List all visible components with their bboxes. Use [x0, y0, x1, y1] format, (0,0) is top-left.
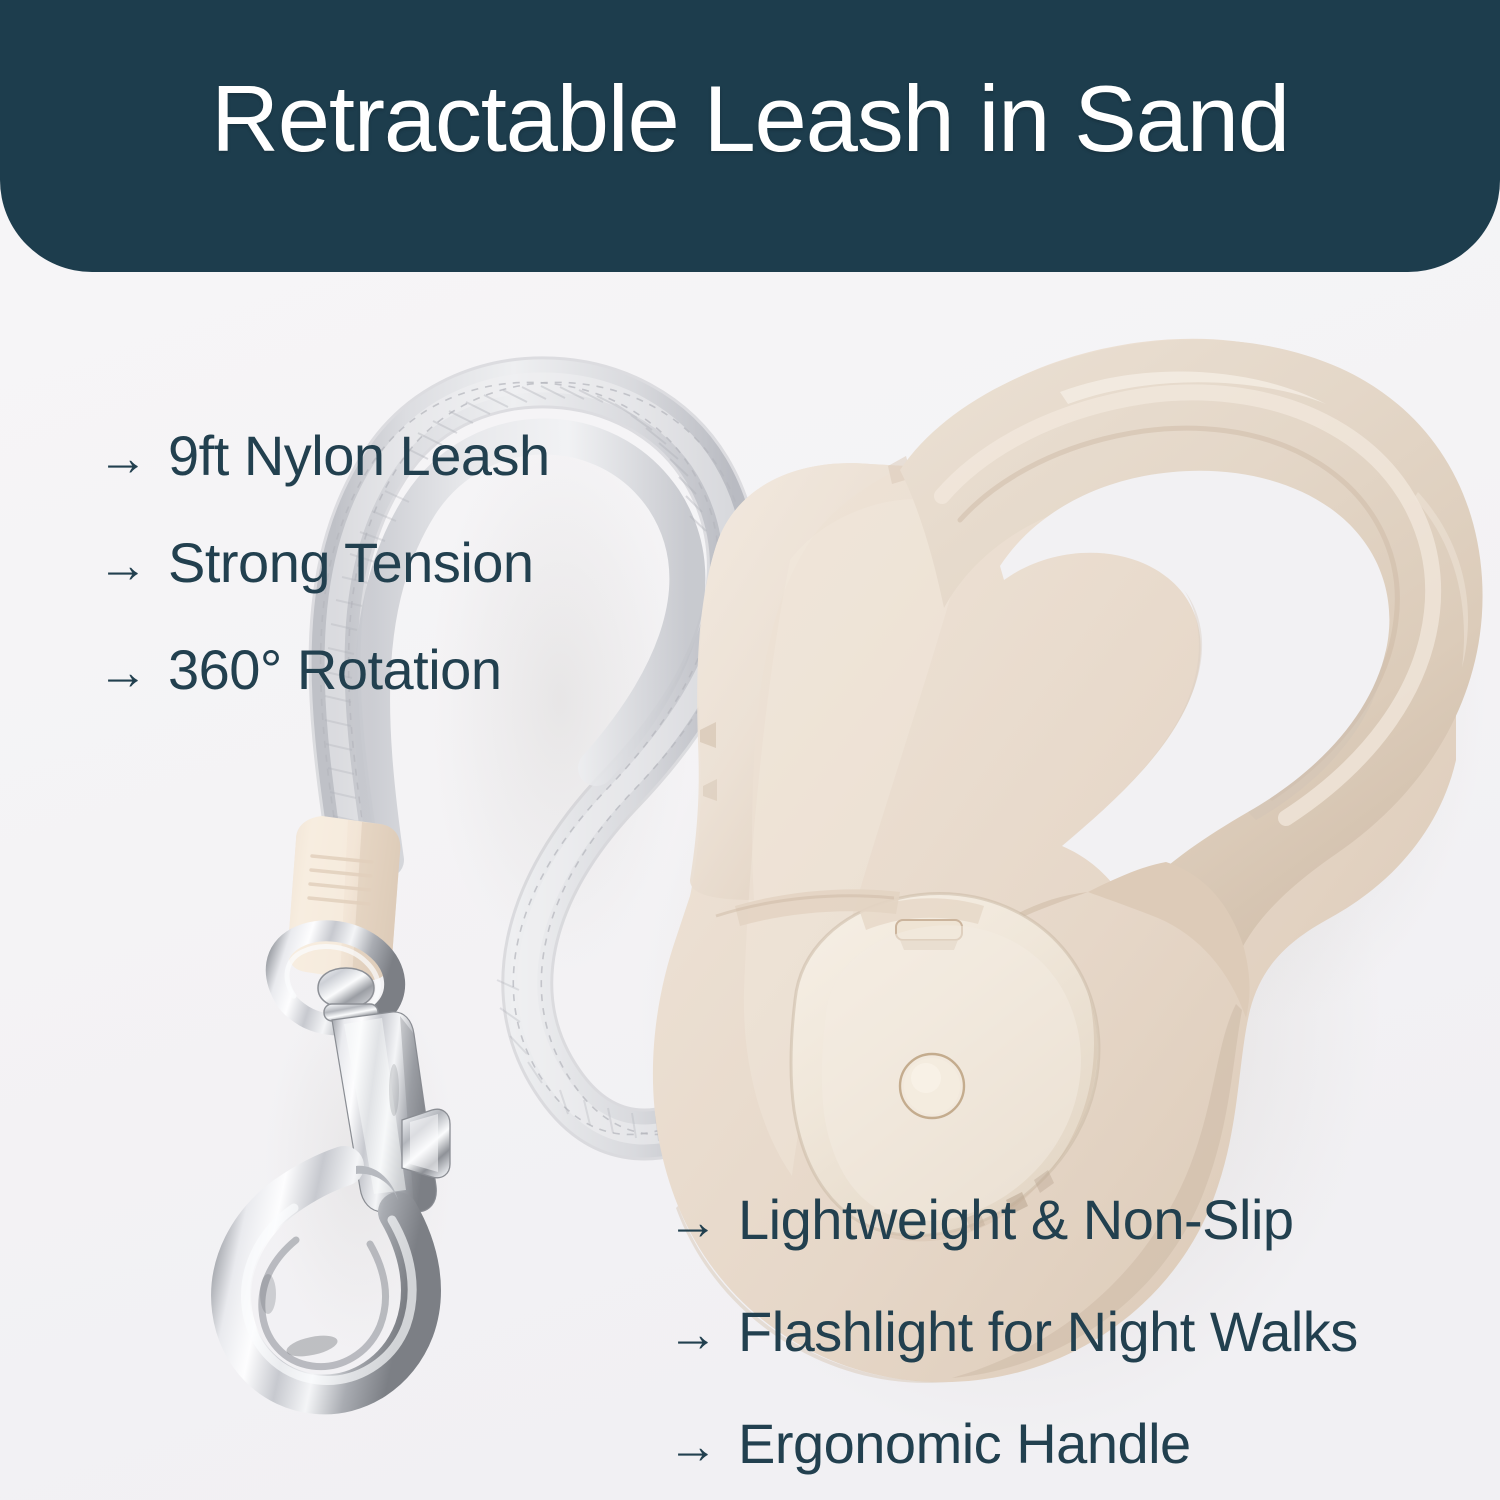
- page-title: Retractable Leash in Sand: [211, 72, 1289, 166]
- feature-label: Flashlight for Night Walks: [738, 1304, 1358, 1360]
- feature-label: Ergonomic Handle: [738, 1416, 1191, 1472]
- feature-label: Strong Tension: [168, 535, 534, 591]
- arrow-icon: →: [668, 1421, 738, 1471]
- feature-list-right: → Lightweight & Non-Slip → Flashlight fo…: [668, 1192, 1358, 1500]
- arrow-icon: →: [668, 1197, 738, 1247]
- feature-label: 9ft Nylon Leash: [168, 428, 550, 484]
- arrow-icon: →: [668, 1309, 738, 1359]
- feature-item-flashlight-night-walks: → Flashlight for Night Walks: [668, 1304, 1358, 1360]
- feature-item-ergonomic-handle: → Ergonomic Handle: [668, 1416, 1358, 1472]
- feature-item-strong-tension: → Strong Tension: [98, 535, 550, 591]
- feature-item-nylon-leash: → 9ft Nylon Leash: [98, 428, 550, 484]
- infographic-canvas: Retractable Leash in Sand → 9ft Nylon Le…: [0, 0, 1500, 1500]
- arrow-icon: →: [98, 647, 168, 697]
- feature-list-left: → 9ft Nylon Leash → Strong Tension → 360…: [98, 428, 550, 749]
- header-banner: Retractable Leash in Sand: [0, 0, 1500, 272]
- feature-item-360-rotation: → 360° Rotation: [98, 642, 550, 698]
- arrow-icon: →: [98, 540, 168, 590]
- feature-label: Lightweight & Non-Slip: [738, 1192, 1294, 1248]
- feature-item-lightweight-non-slip: → Lightweight & Non-Slip: [668, 1192, 1358, 1248]
- feature-label: 360° Rotation: [168, 642, 501, 698]
- arrow-icon: →: [98, 433, 168, 483]
